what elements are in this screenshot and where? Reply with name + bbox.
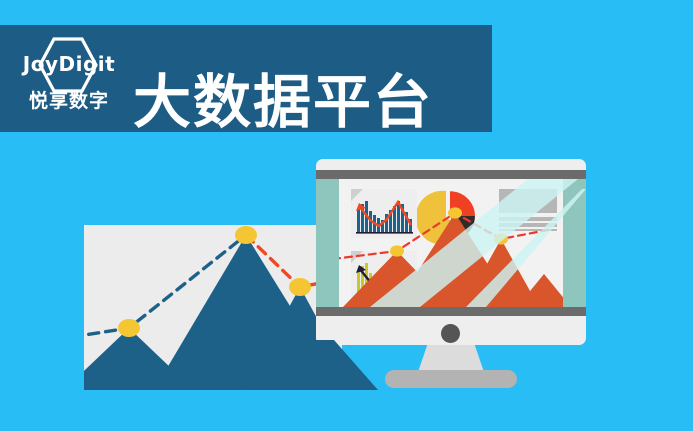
page-title: 大数据平台 [133,73,433,131]
brand-logo: JoyDigit 悦享数字 [14,37,124,121]
monitor-screen [316,179,586,307]
monitor-bezel-bottom [316,307,586,316]
poster-canvas: JoyDigit 悦享数字 大数据平台 [0,0,693,431]
glare-streak-wide [370,179,578,307]
monitor-stand-neck [418,345,484,372]
peak-marker [289,278,311,296]
peak-marker [235,226,257,244]
peak-marker [118,319,140,337]
mountain-line-chart-panel [84,225,342,390]
monitor-power-dot [441,324,460,343]
header-banner: JoyDigit 悦享数字 大数据平台 [0,25,492,132]
logo-subtitle: 悦享数字 [14,92,124,111]
screen-glare-streaks [316,179,586,307]
monitor-illustration [316,159,586,345]
monitor-bezel-top [316,170,586,179]
logo-wordmark: JoyDigit [14,54,124,74]
left-panel-graphic [84,225,342,390]
monitor-stand-base [385,370,517,388]
